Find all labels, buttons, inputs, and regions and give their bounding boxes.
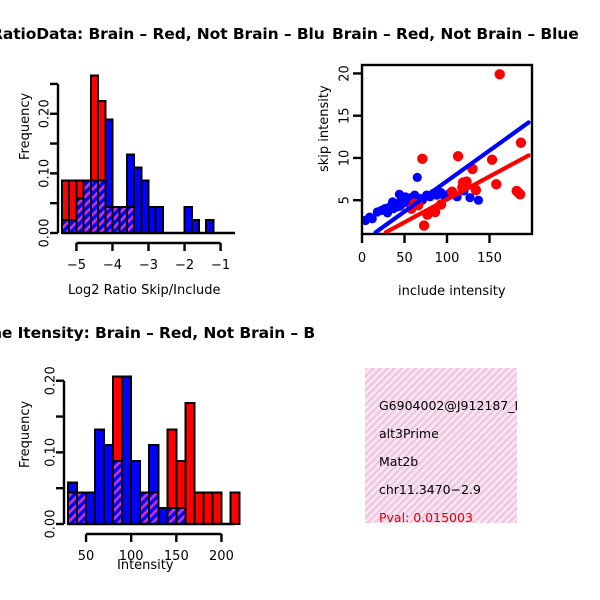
panel-ratio-histogram: RatioData: Brain – Red, Not Brain – Blu …: [0, 0, 300, 310]
svg-text:10: 10: [338, 150, 353, 167]
scatter-plot: 5101520050100150: [300, 0, 600, 300]
infobox-probe-id: G6904002@J912187_RC: [379, 392, 517, 420]
figure-canvas: RatioData: Brain – Red, Not Brain – Blu …: [0, 0, 600, 600]
svg-text:−5: −5: [67, 258, 86, 273]
svg-text:0.00: 0.00: [38, 219, 53, 248]
svg-text:200: 200: [209, 549, 234, 564]
panel-intensity-histogram: ne Itensity: Brain – Red, Not Brain – B …: [0, 300, 300, 600]
svg-text:0.00: 0.00: [44, 510, 59, 539]
svg-text:5: 5: [338, 196, 353, 204]
ratio-histogram-plot: 0.000.100.20−5−4−3−2−1: [0, 0, 300, 300]
infobox-lines: G6904002@J912187_RC alt3Prime Mat2b chr1…: [365, 368, 517, 523]
svg-text:100: 100: [119, 549, 144, 564]
infobox-locus: chr11.3470−2.9: [379, 476, 517, 504]
svg-text:150: 150: [164, 549, 189, 564]
svg-text:100: 100: [435, 251, 460, 266]
infobox-event-type: alt3Prime: [379, 420, 517, 448]
infobox-gene: Mat2b: [379, 448, 517, 476]
svg-text:−4: −4: [103, 258, 122, 273]
svg-text:−3: −3: [139, 258, 158, 273]
svg-text:150: 150: [477, 251, 502, 266]
svg-text:50: 50: [78, 549, 95, 564]
svg-text:−2: −2: [175, 258, 194, 273]
panel-scatter: Brain – Red, Not Brain – Blue skip inten…: [300, 0, 600, 310]
svg-text:15: 15: [338, 107, 353, 124]
svg-text:50: 50: [396, 251, 413, 266]
svg-text:−1: −1: [211, 258, 230, 273]
svg-text:20: 20: [338, 65, 353, 82]
probe-info-box: G6904002@J912187_RC alt3Prime Mat2b chr1…: [365, 368, 517, 523]
svg-text:0: 0: [358, 251, 366, 266]
intensity-histogram-plot: 0.000.100.2050100150200: [0, 300, 300, 580]
svg-text:0.10: 0.10: [38, 159, 53, 188]
svg-text:0.10: 0.10: [44, 438, 59, 467]
svg-text:0.20: 0.20: [38, 99, 53, 128]
svg-text:0.20: 0.20: [44, 366, 59, 395]
infobox-pval: Pval: 0.015003: [379, 504, 517, 523]
